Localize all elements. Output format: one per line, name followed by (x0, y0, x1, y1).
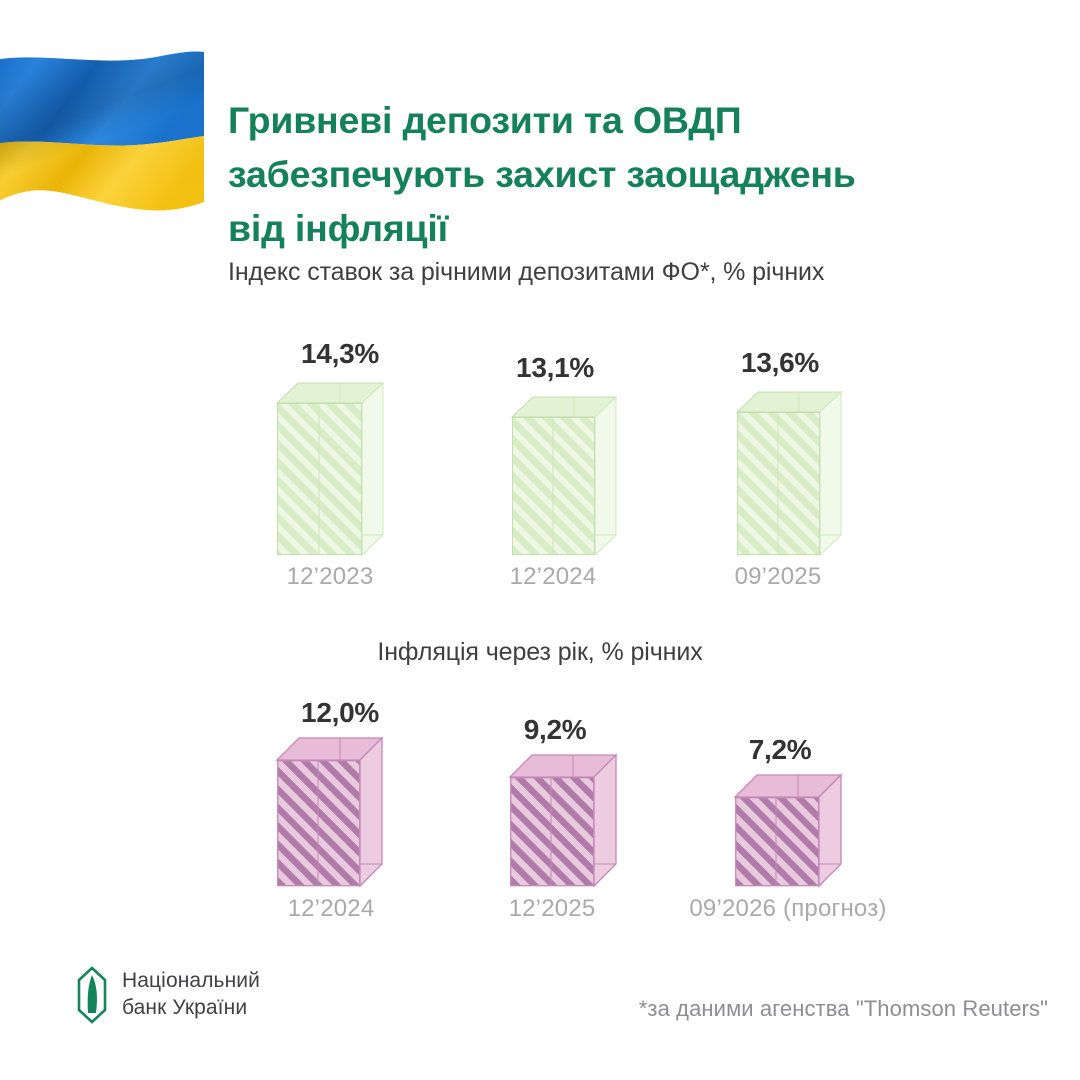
nbu-logo-line-1: Національний (122, 968, 260, 995)
bar-value-label: 13,1% (475, 352, 635, 384)
bar-category-label: 09’2025 (658, 563, 898, 591)
bar-category-label: 09’2026 (прогноз) (668, 895, 908, 923)
bar-shape (277, 383, 383, 556)
chart-inflation-subtitle: Інфляція через рік, % річних (0, 638, 1080, 667)
bar-shape (512, 397, 616, 556)
page-title-line-3: від інфляції (228, 201, 1018, 255)
nbu-logo-mark-icon (74, 966, 110, 1024)
bar-value-label: 13,6% (700, 347, 860, 379)
bar-value-label: 14,3% (260, 338, 420, 370)
bar-shape (277, 738, 382, 887)
chart-inflation-forecast: 12,0% 12’2024 9,2% (0, 690, 1080, 930)
page-title-line-1: Гривневі депозити та ОВДП (228, 93, 1018, 147)
flag-fold-shading (0, 51, 204, 210)
bar-shape (737, 392, 841, 556)
ukraine-flag-icon (0, 32, 208, 212)
bar-category-label: 12’2025 (432, 895, 672, 923)
bar-value-label: 12,0% (260, 697, 420, 729)
chart-deposit-rates: 14,3% 12’2023 13,1% (0, 320, 1080, 600)
nbu-logo-line-2: банк України (122, 995, 260, 1022)
bar-category-label: 12’2024 (433, 563, 673, 591)
bar-category-label: 12’2023 (210, 563, 450, 591)
bar-shape (510, 755, 616, 887)
logo-leaf-shape (88, 975, 97, 1013)
chart-deposit-rates-subtitle: Індекс ставок за річними депозитами ФО*,… (228, 258, 824, 287)
bar-value-label: 9,2% (475, 714, 635, 746)
source-note: *за даними агенства "Thomson Reuters" (639, 996, 1048, 1022)
page-title-line-2: забезпечують захист заощаджень (228, 147, 1018, 201)
bar-category-label: 12’2024 (211, 895, 451, 923)
nbu-logo: Національний банк України (74, 966, 260, 1024)
bar-value-label: 7,2% (700, 734, 860, 766)
bar-shape (735, 775, 841, 887)
ukraine-flag (0, 32, 208, 212)
page-title: Гривневі депозити та ОВДП забезпечують з… (228, 93, 1018, 255)
nbu-logo-text: Національний банк України (122, 968, 260, 1022)
